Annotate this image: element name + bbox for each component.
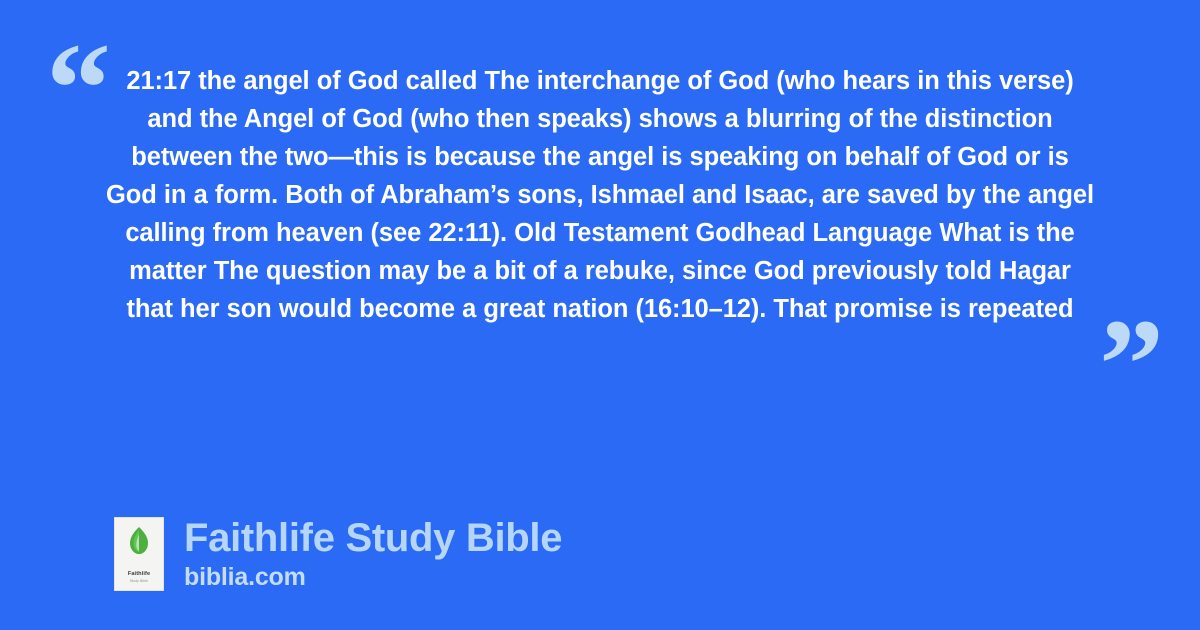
closing-quote-icon: ”	[1099, 300, 1162, 430]
footer-attribution: Faithlife Study Bible Faithlife Study Bi…	[114, 515, 562, 592]
book-cover-subtitle: Study Bible	[115, 579, 163, 583]
quote-block: 21:17 the angel of God called The interc…	[106, 62, 1094, 328]
quote-text: 21:17 the angel of God called The interc…	[106, 62, 1094, 328]
book-cover-brand: Faithlife	[115, 571, 163, 577]
book-cover-thumbnail: Faithlife Study Bible	[114, 517, 164, 591]
resource-title: Faithlife Study Bible	[184, 515, 562, 561]
opening-quote-icon: “	[46, 24, 109, 154]
footer-text-group: Faithlife Study Bible biblia.com	[184, 515, 562, 592]
quote-card: “ ” 21:17 the angel of God called The in…	[0, 0, 1200, 630]
leaf-icon	[128, 527, 150, 554]
site-url[interactable]: biblia.com	[184, 562, 562, 592]
